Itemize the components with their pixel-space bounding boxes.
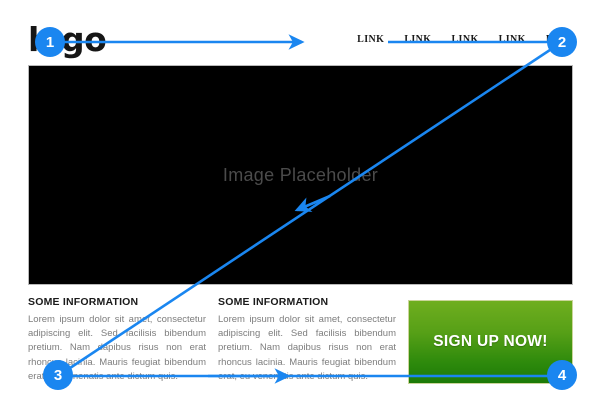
nav-link-3[interactable]: LINK <box>451 34 478 45</box>
info-column-1-heading: SOME INFORMATION <box>28 296 206 308</box>
nav-link-1[interactable]: LINK <box>357 34 384 45</box>
callout-marker-2[interactable]: 2 <box>547 27 577 57</box>
site-header: logo LINK LINK LINK LINK LINK <box>28 20 573 60</box>
main-navigation: LINK LINK LINK LINK LINK <box>357 34 573 45</box>
hero-placeholder-label: Image Placeholder <box>223 165 378 186</box>
info-column-2-heading: SOME INFORMATION <box>218 296 396 308</box>
nav-link-4[interactable]: LINK <box>499 34 526 45</box>
info-column-2: SOME INFORMATION Lorem ipsum dolor sit a… <box>218 296 396 384</box>
hero-image-placeholder: Image Placeholder <box>28 65 573 285</box>
info-column-2-body: Lorem ipsum dolor sit amet, consectetur … <box>218 313 396 384</box>
callout-marker-4[interactable]: 4 <box>547 360 577 390</box>
nav-link-2[interactable]: LINK <box>404 34 431 45</box>
callout-marker-3[interactable]: 3 <box>43 360 73 390</box>
screenshot-root: logo LINK LINK LINK LINK LINK Image Plac… <box>0 0 600 412</box>
website-mockup: logo LINK LINK LINK LINK LINK Image Plac… <box>0 0 600 412</box>
callout-marker-1[interactable]: 1 <box>35 27 65 57</box>
